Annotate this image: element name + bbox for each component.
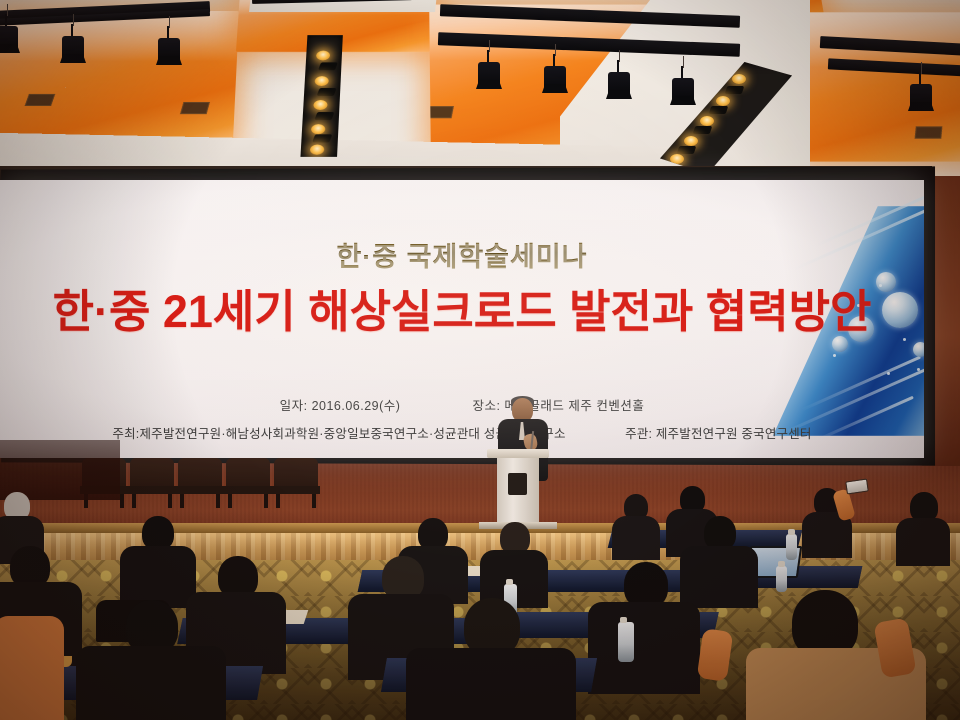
attendee (688, 516, 750, 602)
attendee (756, 590, 896, 720)
attendee (0, 616, 56, 720)
clapping-hand (697, 628, 734, 682)
attendee (900, 492, 946, 558)
water-bottle (618, 622, 634, 662)
attendee (600, 562, 690, 682)
slide-meta-line: 일자: 2016.06.29(수) 장소: 메종글래드 제주 컨벤션홀 (0, 395, 924, 414)
smartphone (845, 479, 869, 495)
ceiling (0, 0, 960, 178)
slide-organizer: 주관: 제주발전연구원 중국연구센터 (625, 427, 812, 441)
light-cove-left (0, 11, 239, 149)
slide-content: 한·중 국제학술세미나 한·중 21세기 해상실크로드 발전과 협력방안 일자:… (0, 180, 924, 458)
podium-top (487, 449, 549, 458)
attendee (128, 516, 188, 600)
light-cove-right (795, 12, 960, 161)
attendee (96, 600, 206, 720)
slide-date: 일자: 2016.06.29(수) (280, 399, 401, 413)
attendee (0, 492, 44, 554)
projection-screen: 한·중 국제학술세미나 한·중 21세기 해상실크로드 발전과 협력방안 일자:… (0, 180, 924, 458)
recessed-downlight-slot-left (300, 35, 342, 157)
slide-host-line: 주최:제주발전연구원·해남성사회과학원·중앙일보중국연구소·성균관대 성균중국연… (0, 423, 924, 442)
water-bottle (786, 534, 797, 560)
attendee (430, 598, 550, 720)
audience-area (0, 470, 960, 720)
slide-title: 한·중 21세기 해상실크로드 발전과 협력방안 (0, 275, 924, 340)
slide-subtitle: 한·중 국제학술세미나 (0, 235, 924, 274)
attendee (616, 494, 656, 554)
water-bottle (776, 566, 787, 592)
conference-photo: 한·중 국제학술세미나 한·중 21세기 해상실크로드 발전과 협력방안 일자:… (0, 0, 960, 720)
